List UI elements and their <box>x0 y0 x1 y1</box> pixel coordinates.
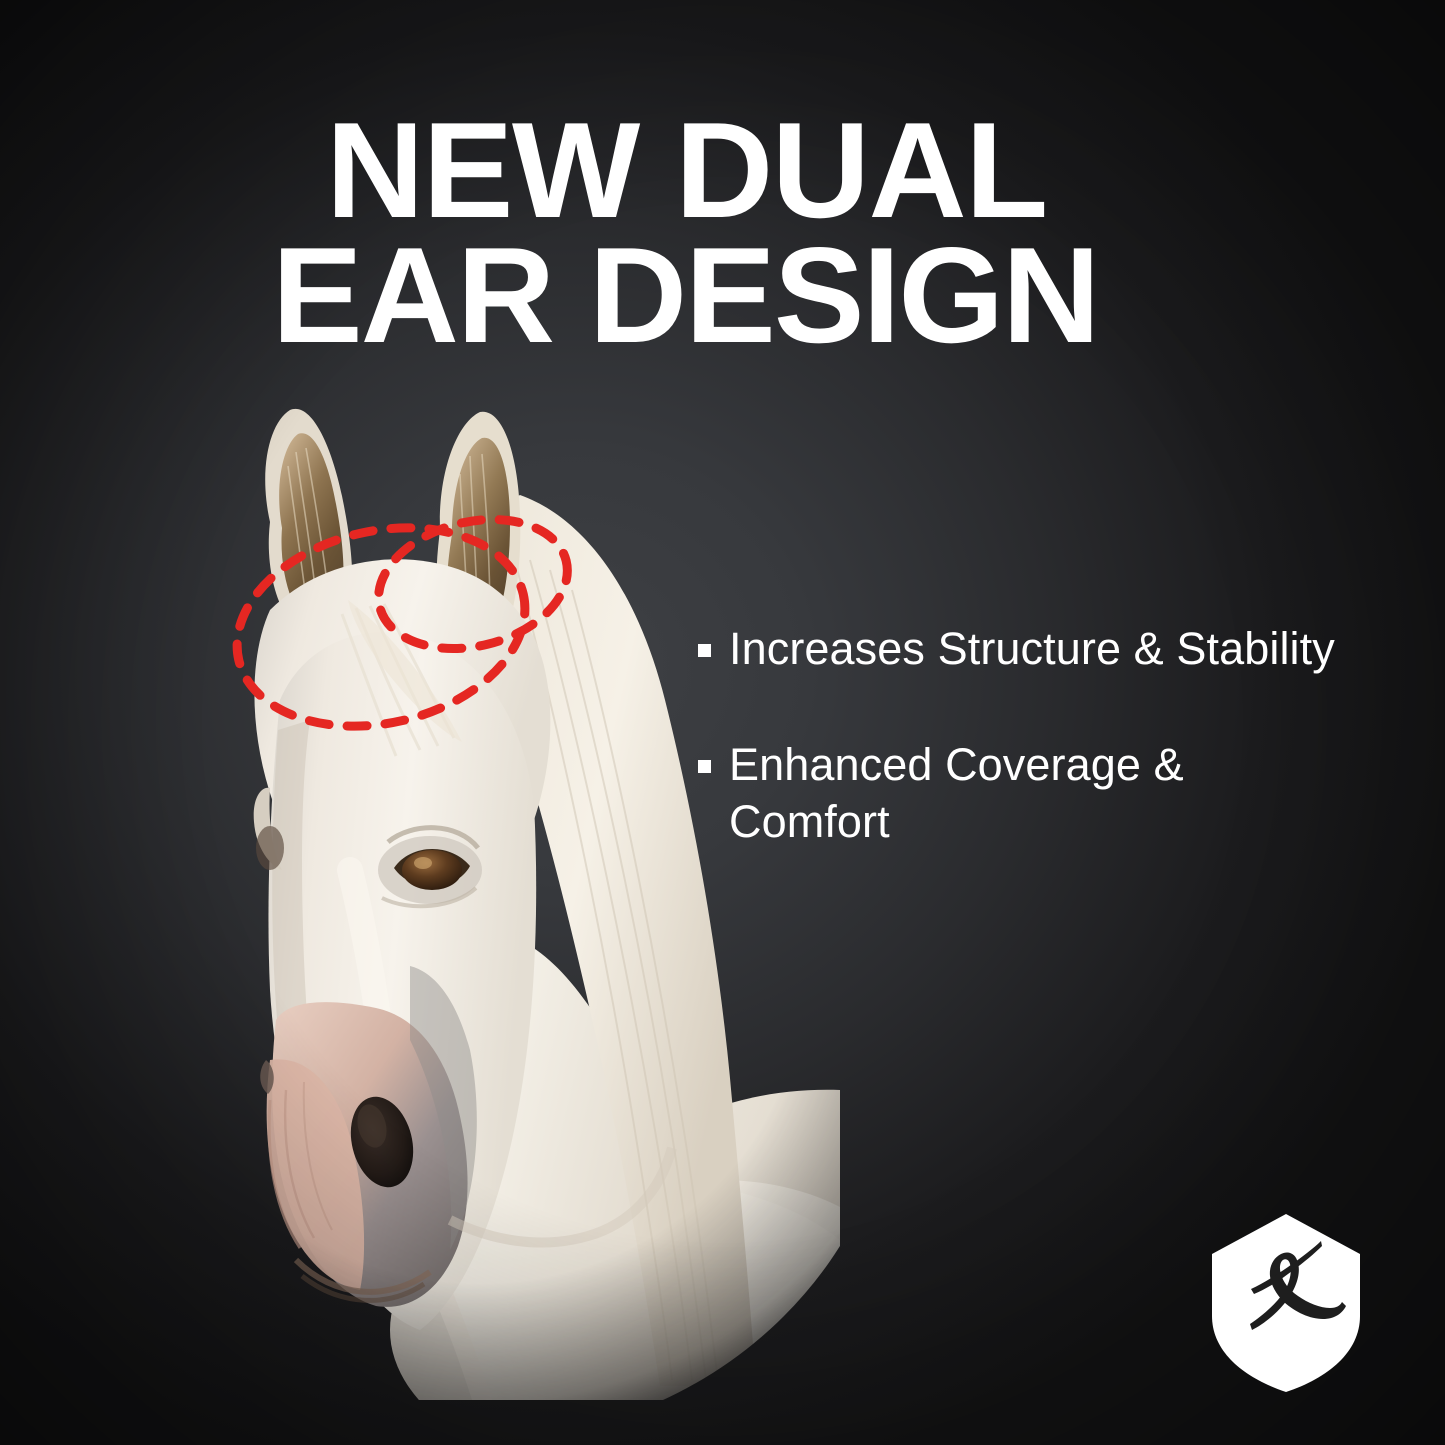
headline-line-1: NEW DUAL <box>326 108 1232 233</box>
list-item: Increases Structure & Stability <box>698 620 1358 678</box>
brand-logo <box>1210 1212 1362 1394</box>
headline-line-2: EAR DESIGN <box>272 233 1232 358</box>
feature-list: Increases Structure & Stability Enhanced… <box>698 620 1358 909</box>
square-bullet-icon <box>698 644 711 657</box>
page-title: NEW DUAL EAR DESIGN <box>272 108 1232 358</box>
list-item: Enhanced Coverage & Comfort <box>698 736 1358 851</box>
list-item-label: Enhanced Coverage & Comfort <box>729 736 1339 851</box>
square-bullet-icon <box>698 760 711 773</box>
promo-graphic: NEW DUAL EAR DESIGN Increases Structure … <box>0 0 1445 1445</box>
list-item-label: Increases Structure & Stability <box>729 620 1335 678</box>
